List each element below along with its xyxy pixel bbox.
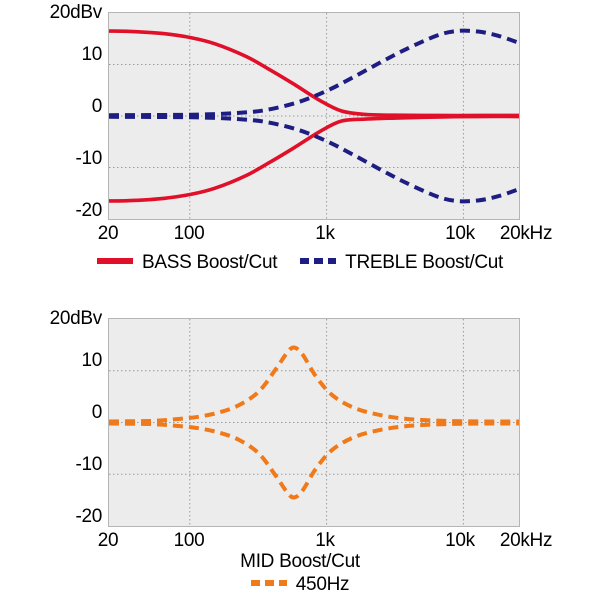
legend-item-mid-450hz: 450Hz	[251, 574, 349, 596]
legend-mid: 450Hz	[0, 574, 600, 596]
plot-area-mid	[108, 318, 520, 527]
x-axis-tick-20-bottom: 20	[86, 531, 130, 550]
treble-line-swatch-icon	[300, 258, 336, 264]
series-path	[109, 31, 519, 116]
x-axis-tick-10k-bottom: 10k	[436, 531, 484, 550]
y-axis-tick-neg10-bottom: -10	[14, 455, 102, 474]
legend-label-mid-450hz: 450Hz	[296, 574, 349, 596]
legend-bass-treble: BASS Boost/Cut TREBLE Boost/Cut	[0, 252, 600, 274]
x-axis-tick-100-top: 100	[164, 224, 214, 243]
legend-item-treble: TREBLE Boost/Cut	[300, 252, 503, 274]
legend-label-treble: TREBLE Boost/Cut	[345, 252, 503, 274]
y-axis-tick-10-bottom: 10	[14, 351, 102, 370]
series-path	[109, 347, 519, 421]
x-axis-tick-20-top: 20	[86, 224, 130, 243]
mid-axis-title: MID Boost/Cut	[0, 551, 600, 573]
legend-item-bass: BASS Boost/Cut	[97, 252, 277, 274]
x-axis-tick-100-bottom: 100	[164, 531, 214, 550]
plot-area-bass-treble	[108, 12, 520, 220]
x-axis-tick-20kHz-top: 20kHz	[487, 224, 565, 243]
bass-treble-chart: 20dBv 10 0 -10 -20 20 100 1k 10k 20kHz	[0, 0, 600, 290]
x-axis-tick-1k-top: 1k	[303, 224, 347, 243]
y-axis-tick-10-top: 10	[14, 45, 102, 64]
x-axis-tick-1k-bottom: 1k	[303, 531, 347, 550]
mid-plot-svg	[109, 319, 519, 526]
series-path	[109, 117, 519, 202]
y-axis-tick-neg20-bottom: -20	[14, 507, 102, 526]
bass-treble-plot-svg	[109, 13, 519, 219]
y-axis-tick-neg10-top: -10	[14, 149, 102, 168]
series-path	[109, 116, 519, 200]
mid-chart: 20dBv 10 0 -10 -20 20 100 1k 10k 20kHz M	[0, 300, 600, 600]
x-axis-tick-10k-top: 10k	[436, 224, 484, 243]
series-path	[109, 423, 519, 497]
legend-label-bass: BASS Boost/Cut	[142, 252, 277, 274]
y-axis-tick-neg20-top: -20	[14, 201, 102, 220]
series-path	[109, 31, 519, 115]
equalizer-response-figure: 20dBv 10 0 -10 -20 20 100 1k 10k 20kHz	[0, 0, 600, 600]
mid-line-swatch-icon	[251, 580, 287, 586]
y-axis-unit-label-bottom: 20dBv	[14, 309, 102, 328]
bass-line-swatch-icon	[97, 258, 133, 264]
y-axis-tick-0-top: 0	[14, 97, 102, 116]
y-axis-unit-label-top: 20dBv	[14, 3, 102, 22]
y-axis-tick-0-bottom: 0	[14, 403, 102, 422]
x-axis-tick-20kHz-bottom: 20kHz	[487, 531, 565, 550]
